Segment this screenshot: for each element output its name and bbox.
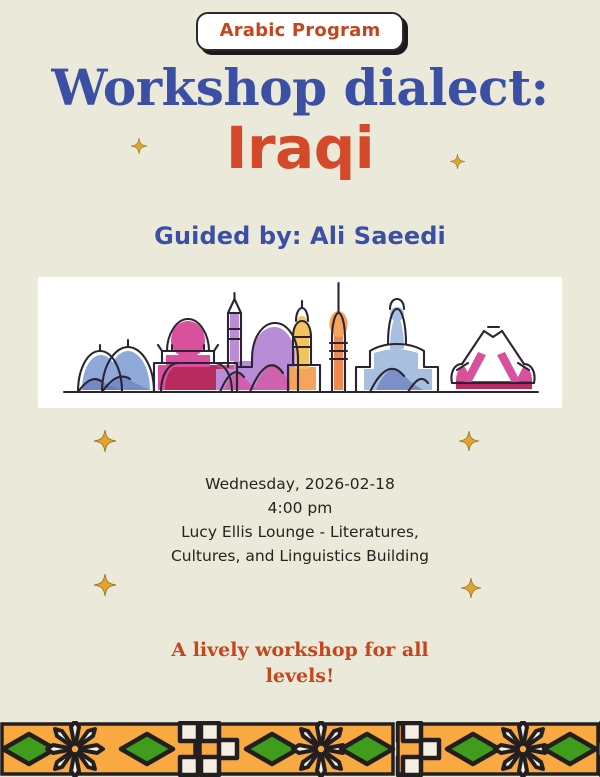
sparkle-icon [459, 431, 479, 451]
ornamental-border-pattern [0, 721, 600, 777]
poster-title-line2: Iraqi [0, 118, 600, 179]
poster-title-line1: Workshop dialect: [0, 62, 600, 113]
sparkle-icon [461, 578, 481, 598]
sparkle-icon [94, 430, 116, 452]
event-time: 4:00 pm [0, 496, 600, 520]
event-location-line1: Lucy Ellis Lounge - Literatures, [0, 520, 600, 544]
poster-tagline: A lively workshop for all levels! [0, 638, 600, 689]
ornamental-border [0, 721, 600, 777]
event-details: Wednesday, 2026-02-18 4:00 pm Lucy Ellis… [0, 472, 600, 568]
skyline-illustration-panel [38, 277, 562, 408]
presenter-label: Guided by: Ali Saeedi [0, 222, 600, 250]
sparkle-icon [450, 154, 465, 169]
badge-container: Arabic Program [0, 12, 600, 51]
sparkle-icon [94, 574, 116, 596]
event-date: Wednesday, 2026-02-18 [0, 472, 600, 496]
baghdad-skyline-icon [38, 277, 562, 408]
event-location-line2: Cultures, and Linguistics Building [0, 544, 600, 568]
program-badge: Arabic Program [196, 12, 405, 51]
poster-canvas: Arabic Program Workshop dialect: Iraqi G… [0, 0, 600, 777]
sparkle-icon [131, 138, 147, 154]
